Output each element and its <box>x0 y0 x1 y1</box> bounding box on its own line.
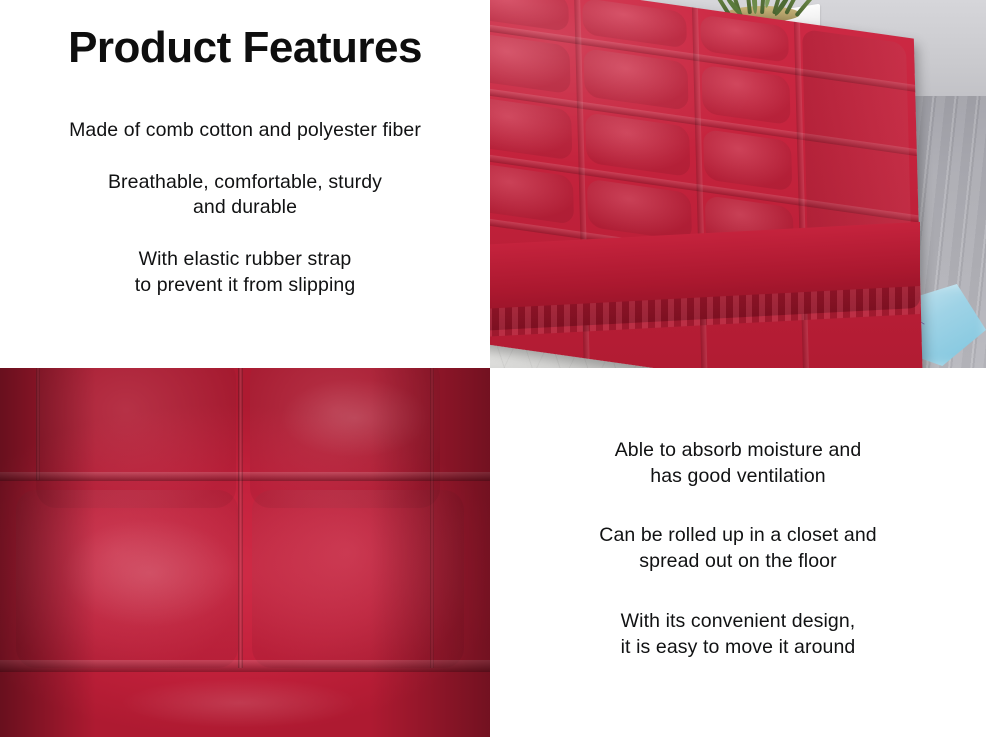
feature-line: Can be rolled up in a closet and <box>490 523 986 549</box>
fabric-left-shadow <box>0 368 96 737</box>
features-left-list: Made of comb cotton and polyester fiber … <box>0 118 490 299</box>
feature-line: With elastic rubber strap <box>0 247 490 273</box>
feature-line: it is easy to move it around <box>490 635 986 661</box>
feature-item: With its convenient design, it is easy t… <box>490 609 986 660</box>
product-features-collage: Product Features Made of comb cotton and… <box>0 0 986 737</box>
fabric-right-shadow <box>370 368 490 737</box>
text-panel-top-left: Product Features Made of comb cotton and… <box>0 0 490 368</box>
feature-item: With elastic rubber strap to prevent it … <box>0 247 490 298</box>
feature-line: Able to absorb moisture and <box>490 438 986 464</box>
fabric-closeup-photo <box>0 368 490 737</box>
feature-line: has good ventilation <box>490 464 986 490</box>
quilted-fabric-macro <box>0 368 490 737</box>
scene-illustration: ~~~~ <box>490 0 986 368</box>
features-right-list: Able to absorb moisture and has good ven… <box>490 438 986 660</box>
feature-line: spread out on the floor <box>490 549 986 575</box>
page-title: Product Features <box>0 24 490 72</box>
feature-line: to prevent it from slipping <box>0 273 490 299</box>
feature-item: Made of comb cotton and polyester fiber <box>0 118 490 144</box>
feature-item: Able to absorb moisture and has good ven… <box>490 438 986 489</box>
feature-line: Made of comb cotton and polyester fiber <box>0 118 490 144</box>
feature-item: Breathable, comfortable, sturdy and dura… <box>0 170 490 221</box>
feature-line: With its convenient design, <box>490 609 986 635</box>
feature-line: Breathable, comfortable, sturdy <box>0 170 490 196</box>
bedroom-scene-photo: ~~~~ <box>490 0 986 368</box>
feature-item: Can be rolled up in a closet and spread … <box>490 523 986 574</box>
feature-line: and durable <box>0 195 490 221</box>
